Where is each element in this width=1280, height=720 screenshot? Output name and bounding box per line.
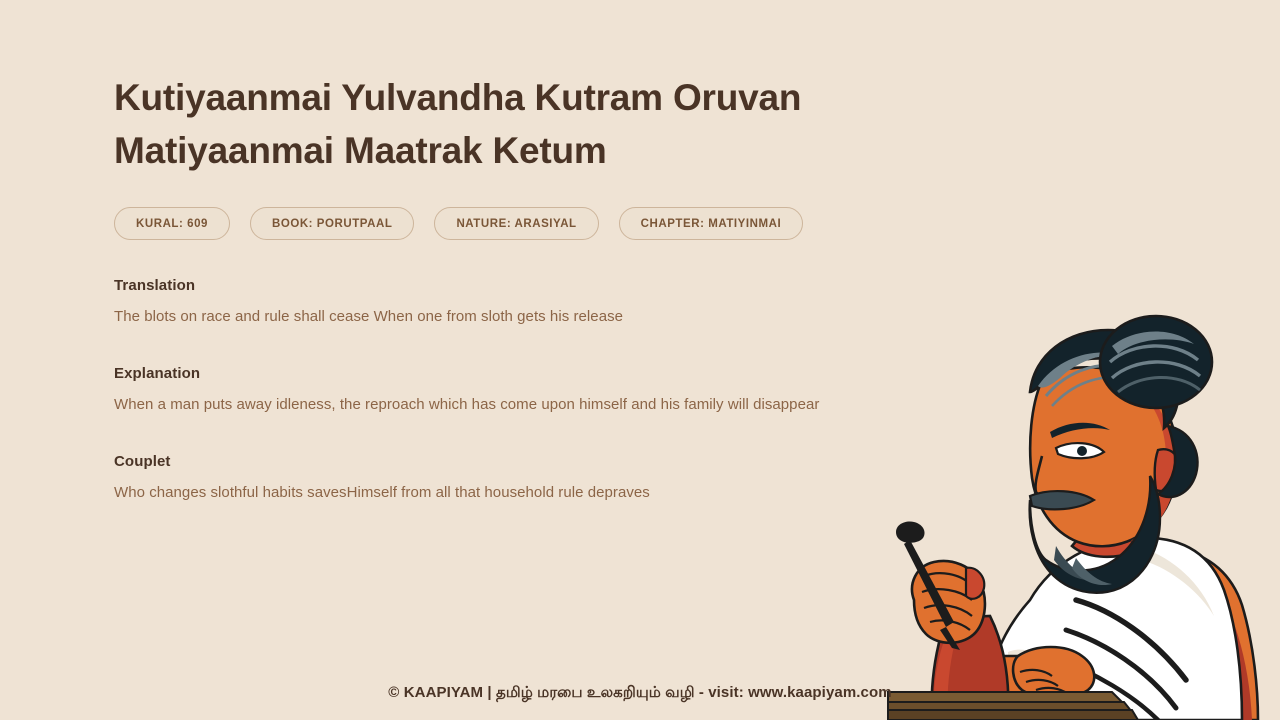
translation-text: The blots on race and rule shall cease W… xyxy=(114,306,904,328)
hair-bun xyxy=(1100,316,1212,408)
writing-hand xyxy=(912,561,985,643)
footer-credit: © KAAPIYAM | தமிழ் மரபை உலகறியும் வழி - … xyxy=(0,684,1280,703)
head xyxy=(1030,316,1212,593)
couplet-text: Who changes slothful habits savesHimself… xyxy=(114,482,904,504)
pill-chapter[interactable]: CHAPTER: MATIYINMAI xyxy=(619,207,804,240)
kural-card-page: Kutiyaanmai Yulvandha Kutram Oruvan Mati… xyxy=(0,0,1280,720)
couplet-section: Couplet Who changes slothful habits save… xyxy=(114,453,904,504)
writing-forearm xyxy=(932,616,1009,720)
hair-highlight-front xyxy=(1038,352,1118,387)
couplet-label: Couplet xyxy=(114,453,904,470)
pill-book[interactable]: BOOK: PORUTPAAL xyxy=(250,207,414,240)
hair-back-lock xyxy=(1158,426,1198,497)
translation-section: Translation The blots on race and rule s… xyxy=(114,277,904,328)
pill-nature[interactable]: NATURE: ARASIYAL xyxy=(434,207,598,240)
hair-front xyxy=(1030,330,1178,428)
beard-highlight xyxy=(1054,546,1096,580)
stylus xyxy=(896,521,960,650)
neck xyxy=(1072,500,1134,557)
forearm-highlight xyxy=(934,626,958,720)
drape-shade-2 xyxy=(1008,650,1052,666)
thiruvalluvar-illustration xyxy=(880,300,1280,720)
pill-kural-number[interactable]: KURAL: 609 xyxy=(114,207,230,240)
explanation-section: Explanation When a man puts away idlenes… xyxy=(114,365,904,416)
moustache xyxy=(1030,491,1094,509)
translation-label: Translation xyxy=(114,277,904,294)
explanation-label: Explanation xyxy=(114,365,904,382)
kural-content: Kutiyaanmai Yulvandha Kutram Oruvan Mati… xyxy=(114,72,904,503)
explanation-text: When a man puts away idleness, the repro… xyxy=(114,394,904,416)
meta-pill-group: KURAL: 609 BOOK: PORUTPAAL NATURE: ARASI… xyxy=(114,207,904,240)
beard xyxy=(1030,476,1160,593)
drape-shade xyxy=(1135,546,1214,616)
page-title: Kutiyaanmai Yulvandha Kutram Oruvan Mati… xyxy=(114,72,834,177)
drape-fold-1 xyxy=(1076,600,1186,680)
